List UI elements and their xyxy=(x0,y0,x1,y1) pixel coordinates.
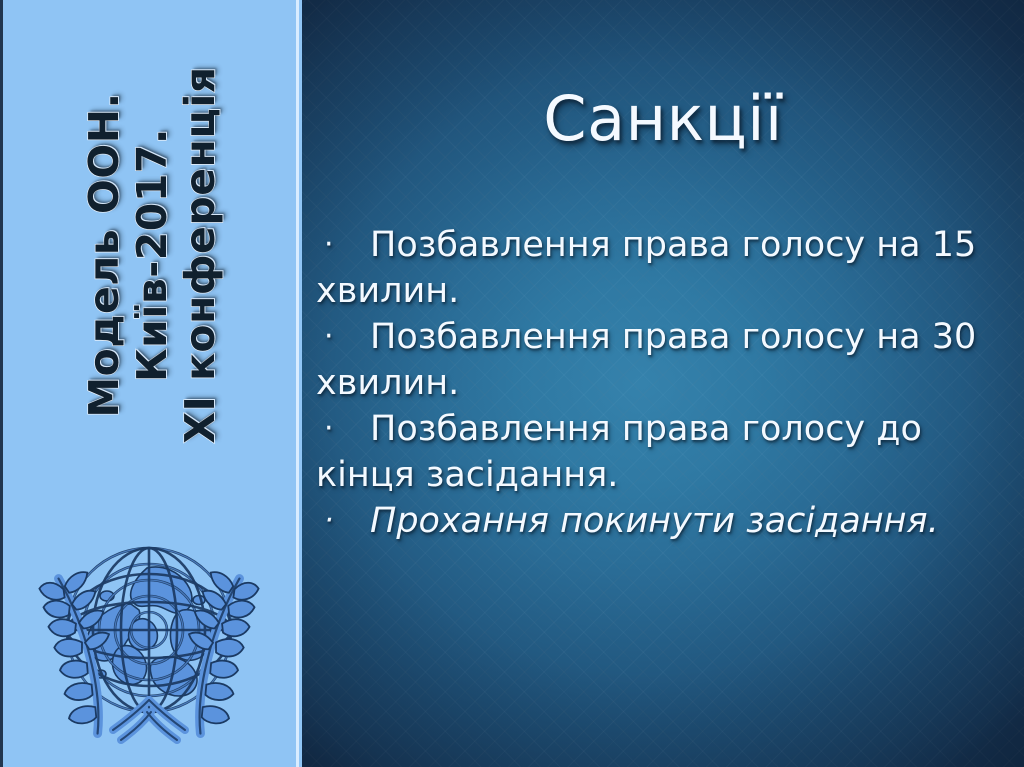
list-item: ·Прохання покинути засідання. xyxy=(316,498,1014,544)
sidebar-vertical-title: Модель ООН. Київ-2017. XI конференція xyxy=(3,0,299,510)
sidebar-title-line-1: Модель ООН. xyxy=(82,92,128,417)
list-item-text: Прохання покинути засідання. xyxy=(370,501,939,541)
slide-title: Санкції xyxy=(302,86,1024,151)
un-emblem-icon xyxy=(9,534,289,749)
bullet-list: ·Позбавлення права голосу на 15 хвилин. … xyxy=(316,222,1014,544)
bullet-dot-icon: · xyxy=(316,222,370,268)
sidebar-title-line-3: XI конференція xyxy=(177,66,223,443)
list-item: ·Позбавлення права голосу до кінця засід… xyxy=(316,406,1014,498)
list-item: ·Позбавлення права голосу на 15 хвилин. xyxy=(316,222,1014,314)
bullet-dot-icon: · xyxy=(316,314,370,360)
bullet-dot-icon: · xyxy=(316,406,370,452)
list-item-text: Позбавлення права голосу на 30 хвилин. xyxy=(316,317,976,403)
slide-content-panel: Санкції ·Позбавлення права голосу на 15 … xyxy=(302,0,1024,767)
presentation-slide: Модель ООН. Київ-2017. XI конференція xyxy=(0,0,1024,767)
list-item: ·Позбавлення права голосу на 30 хвилин. xyxy=(316,314,1014,406)
list-item-text: Позбавлення права голосу до кінця засіда… xyxy=(316,409,922,495)
list-item-text: Позбавлення права голосу на 15 хвилин. xyxy=(316,225,976,311)
sidebar: Модель ООН. Київ-2017. XI конференція xyxy=(0,0,299,767)
sidebar-title-line-2: Київ-2017. xyxy=(130,128,176,382)
bullet-dot-icon: · xyxy=(316,498,370,544)
